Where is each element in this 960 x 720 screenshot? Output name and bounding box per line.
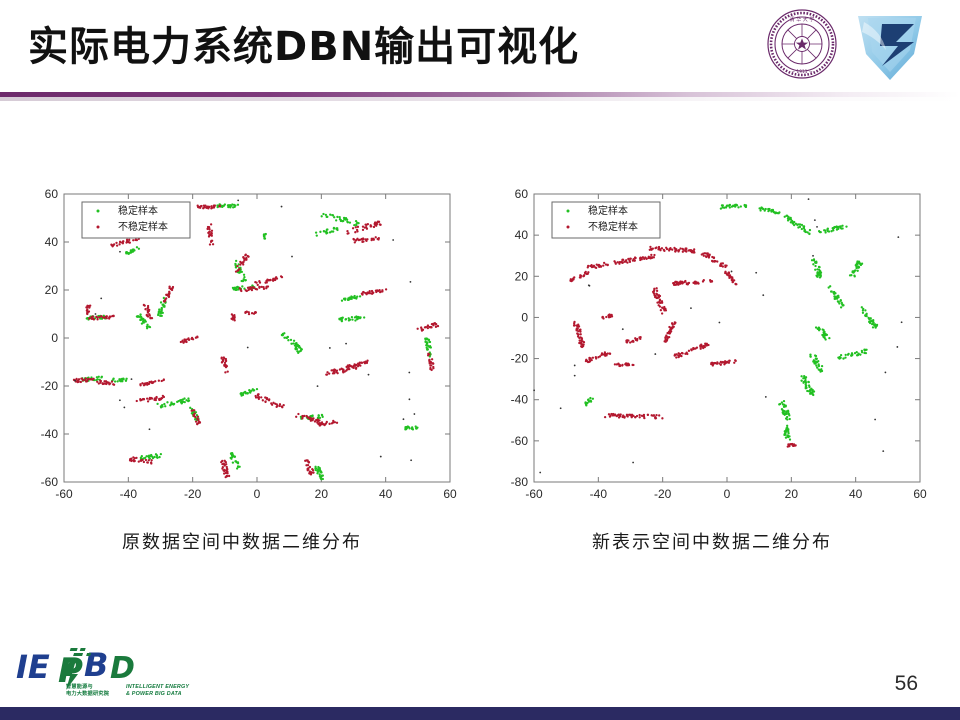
svg-text:20: 20 (785, 487, 799, 501)
svg-text:IE: IE (16, 648, 50, 686)
iepbd-logo: IE P B D 智慧能源与 电力大数据研究院 INTELLIGENT ENER… (14, 644, 194, 706)
slide-header: 实际电力系统DBN输出可视化 清 华 大 学 ~ 1911 ~ (0, 0, 960, 90)
footer-bar (0, 707, 960, 720)
svg-text:-60: -60 (511, 434, 529, 448)
scatter-plot-original[interactable]: -60-40-200204060-60-40-200204060稳定样本不稳定样… (22, 180, 462, 520)
department-shield-logo-icon (852, 10, 928, 80)
figure-caption-original: 原数据空间中数据二维分布 (22, 528, 462, 554)
svg-text:0: 0 (51, 331, 58, 345)
svg-text:-40: -40 (511, 393, 529, 407)
scatter-plot-new[interactable]: -60-40-200204060-80-60-40-200204060稳定样本不… (492, 180, 932, 520)
page-number: 56 (895, 672, 918, 696)
svg-text:稳定样本: 稳定样本 (118, 204, 158, 217)
header-divider-shadow (0, 97, 960, 101)
svg-text:-60: -60 (525, 487, 543, 501)
figure-caption-new: 新表示空间中数据二维分布 (492, 528, 932, 554)
svg-text:-60: -60 (55, 487, 73, 501)
svg-text:-20: -20 (654, 487, 672, 501)
figure-area: -60-40-200204060-60-40-200204060稳定样本不稳定样… (0, 180, 960, 580)
svg-text:0: 0 (724, 487, 731, 501)
svg-text:-40: -40 (590, 487, 608, 501)
svg-text:-80: -80 (511, 475, 529, 489)
svg-text:不稳定样本: 不稳定样本 (588, 220, 638, 233)
svg-text:不稳定样本: 不稳定样本 (118, 220, 168, 233)
svg-text:40: 40 (849, 487, 863, 501)
svg-text:40: 40 (379, 487, 393, 501)
slide: 实际电力系统DBN输出可视化 清 华 大 学 ~ 1911 ~ (0, 0, 960, 720)
svg-text:0: 0 (521, 310, 528, 324)
iepbd-logo-en-text: INTELLIGENT ENERGY & POWER BIG DATA (126, 684, 189, 698)
svg-text:20: 20 (45, 283, 59, 297)
svg-text:-20: -20 (184, 487, 202, 501)
page-title: 实际电力系统DBN输出可视化 (28, 14, 579, 72)
svg-text:-20: -20 (41, 379, 59, 393)
svg-text:40: 40 (515, 228, 529, 242)
svg-text:D: D (110, 651, 135, 686)
svg-text:清 华 大 学: 清 华 大 学 (790, 16, 815, 23)
svg-text:-40: -40 (120, 487, 138, 501)
svg-text:0: 0 (254, 487, 261, 501)
svg-text:-40: -40 (41, 427, 59, 441)
svg-text:-20: -20 (511, 352, 529, 366)
svg-text:60: 60 (45, 187, 59, 201)
figure-original-space: -60-40-200204060-60-40-200204060稳定样本不稳定样… (22, 180, 462, 580)
header-logo-group: 清 华 大 学 ~ 1911 ~ (766, 6, 946, 82)
svg-text:60: 60 (913, 487, 927, 501)
tsinghua-university-seal-icon: 清 华 大 学 ~ 1911 ~ (766, 8, 838, 80)
svg-text:60: 60 (443, 487, 457, 501)
svg-text:20: 20 (315, 487, 329, 501)
svg-text:60: 60 (515, 187, 529, 201)
svg-text:20: 20 (515, 269, 529, 283)
svg-text:~ 1911 ~: ~ 1911 ~ (791, 69, 813, 75)
svg-text:B: B (84, 646, 108, 684)
figure-new-space: -60-40-200204060-80-60-40-200204060稳定样本不… (492, 180, 932, 580)
svg-text:-60: -60 (41, 475, 59, 489)
iepbd-logo-cn-text: 智慧能源与 电力大数据研究院 (66, 684, 109, 698)
svg-text:40: 40 (45, 235, 59, 249)
svg-text:稳定样本: 稳定样本 (588, 204, 628, 217)
